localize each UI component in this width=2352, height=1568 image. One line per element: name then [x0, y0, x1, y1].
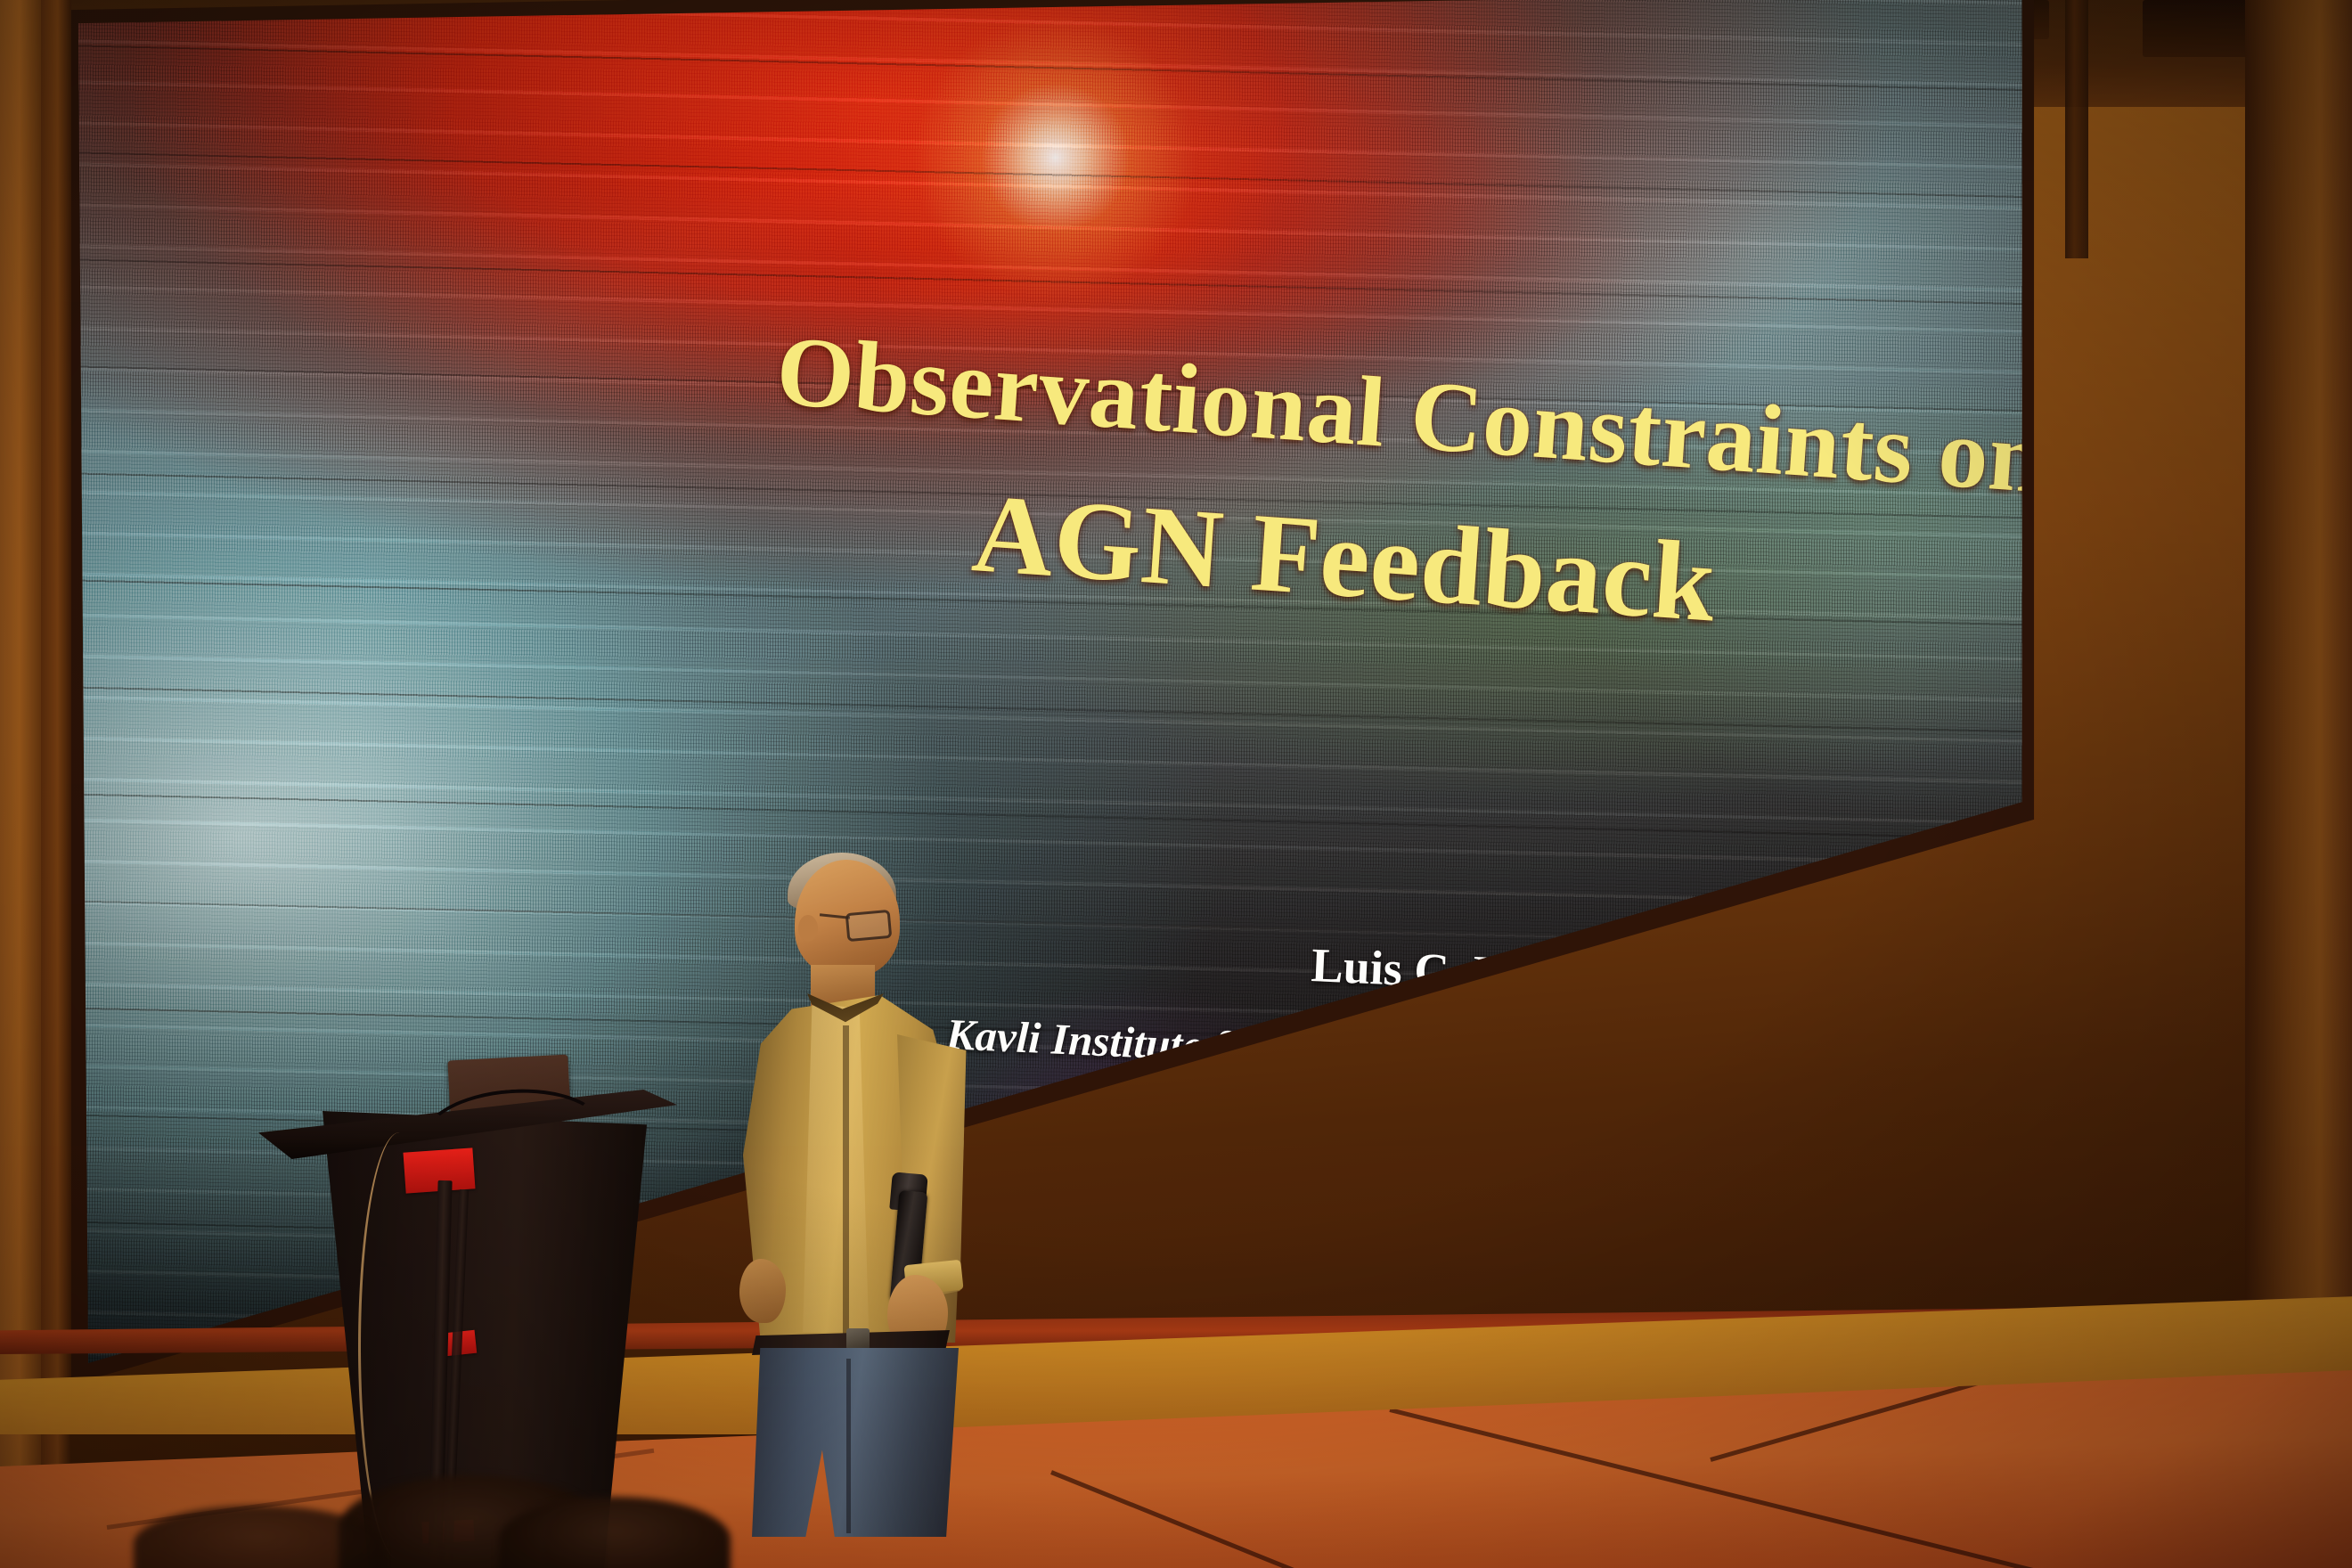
jeans-seam	[846, 1359, 851, 1533]
presenter-left-hand	[739, 1259, 786, 1323]
presenter	[713, 860, 998, 1568]
presenter-ear	[798, 915, 818, 942]
photo-scene: Observational Constraints on AGN Feedbac…	[0, 0, 2352, 1568]
presenter-shirt-placket	[843, 1025, 849, 1337]
floor-seam	[1389, 1408, 2168, 1568]
floor-seam	[1050, 1470, 1680, 1568]
belt-buckle	[846, 1328, 870, 1350]
wall-pilaster-right	[2065, 0, 2088, 258]
glasses-icon	[845, 910, 893, 942]
presenter-jeans	[752, 1348, 959, 1537]
